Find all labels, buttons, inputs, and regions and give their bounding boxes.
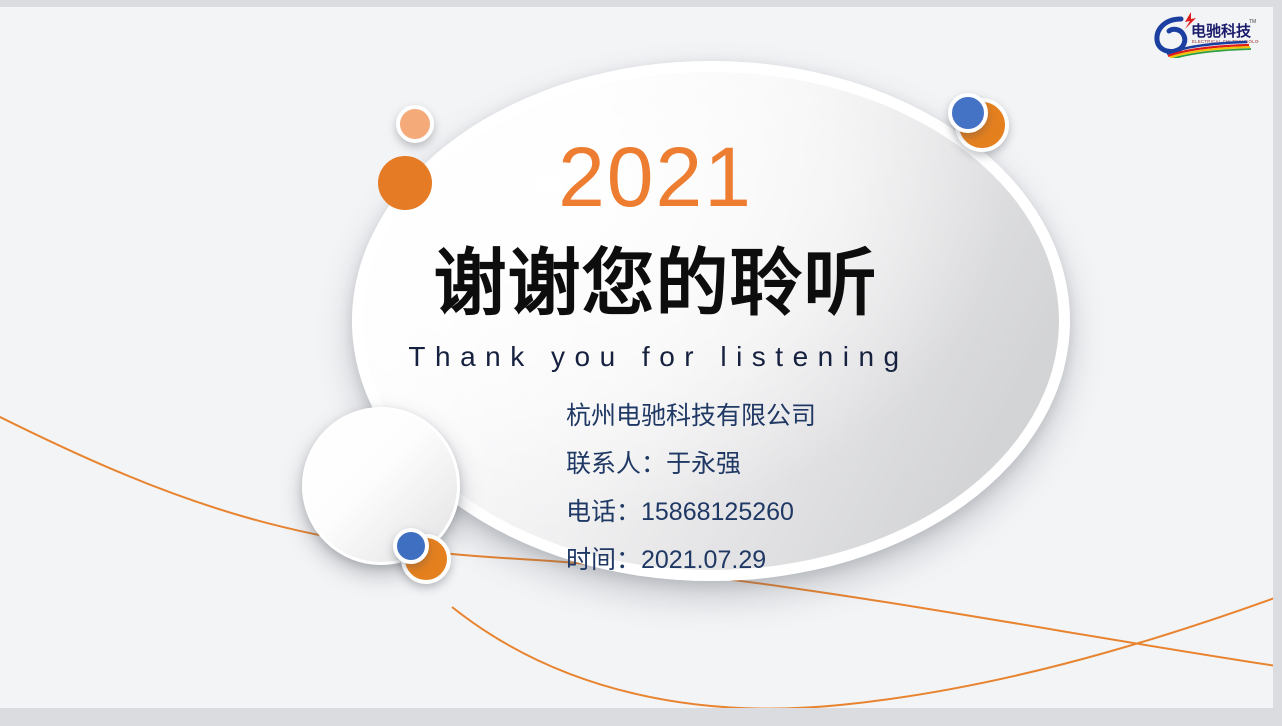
viewer-frame-top bbox=[0, 0, 1282, 7]
slide-canvas: 2021 谢谢您的聆听 Thank you for listening 杭州电驰… bbox=[0, 7, 1273, 708]
viewer-frame-right bbox=[1273, 0, 1282, 726]
contact-phone: 电话：15868125260 bbox=[566, 488, 1036, 536]
company-logo: 电驰科技 TM ELECTRICAL CHI TECHNOLOGY bbox=[1151, 10, 1259, 58]
viewer-frame-bottom bbox=[0, 708, 1282, 726]
contact-company: 杭州电驰科技有限公司 bbox=[566, 392, 1036, 440]
year-heading: 2021 bbox=[0, 135, 1273, 219]
thanks-heading-chinese: 谢谢您的聆听 bbox=[0, 245, 1273, 324]
contact-info-block: 杭州电驰科技有限公司 联系人：于永强 电话：15868125260 时间：202… bbox=[566, 392, 1036, 584]
slide-content: 2021 谢谢您的聆听 Thank you for listening 杭州电驰… bbox=[0, 7, 1273, 708]
thanks-subheading-english: Thank you for listening bbox=[0, 340, 1273, 374]
logo-name-cn: 电驰科技 bbox=[1191, 22, 1252, 40]
contact-date: 时间：2021.07.29 bbox=[566, 536, 1036, 584]
logo-trademark: TM bbox=[1249, 19, 1256, 25]
slide-viewer: 2021 谢谢您的聆听 Thank you for listening 杭州电驰… bbox=[0, 0, 1282, 726]
contact-person: 联系人：于永强 bbox=[566, 440, 1036, 488]
